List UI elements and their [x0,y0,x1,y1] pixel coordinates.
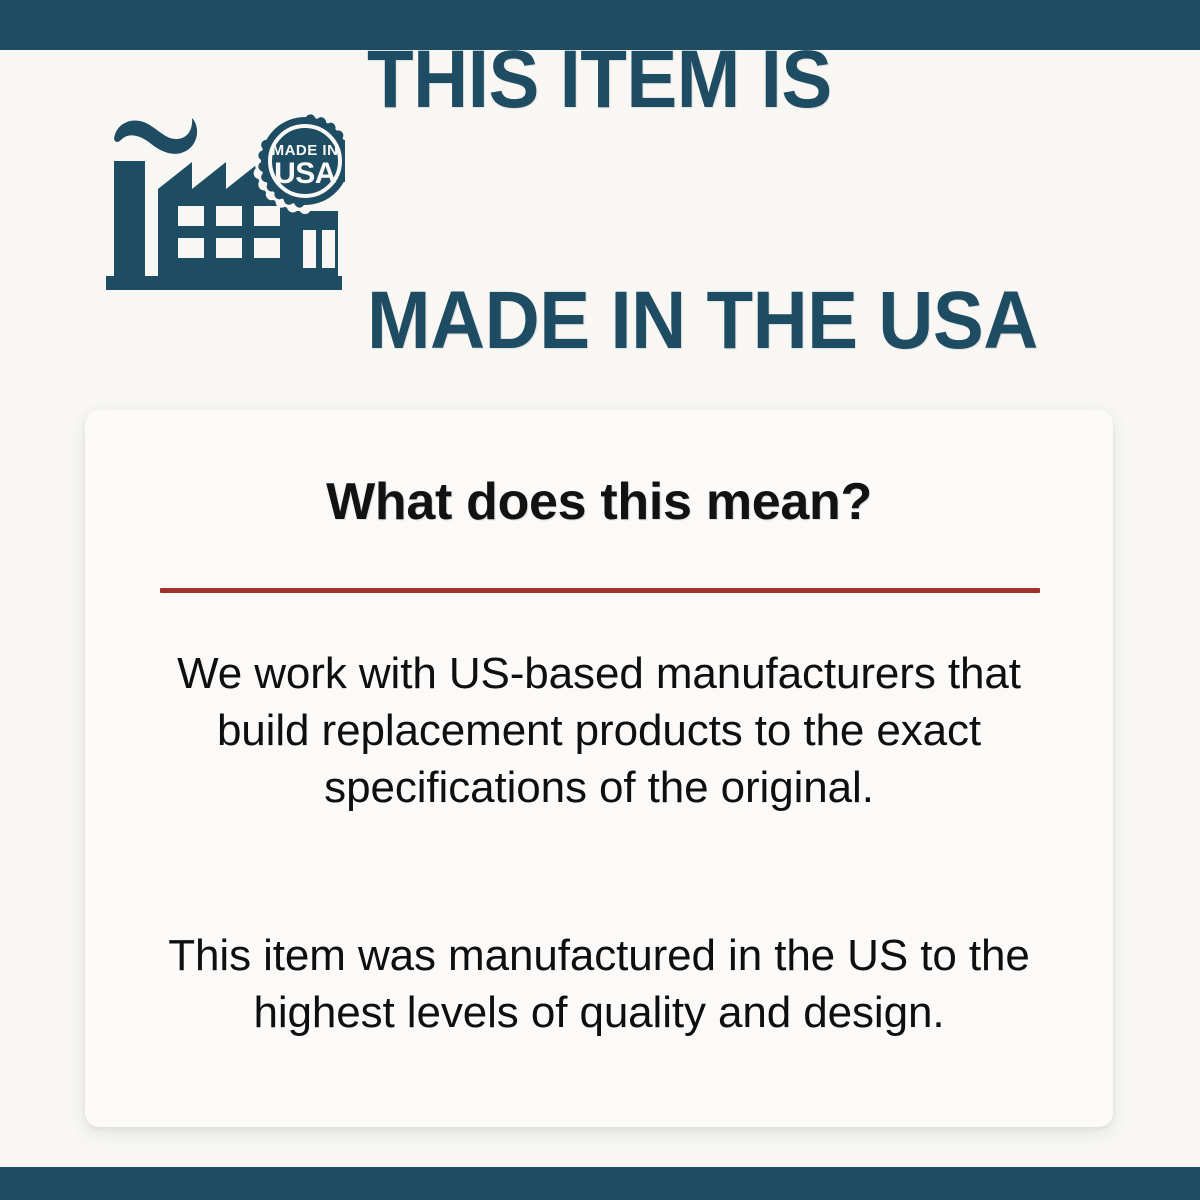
headline-line-1: THIS ITEM IS [367,40,1038,120]
factory-icon: MADE IN USA [100,106,345,296]
card-divider [160,588,1040,593]
card-paragraph-2: This item was manufactured in the US to … [135,928,1063,1042]
info-card: What does this mean? We work with US-bas… [85,410,1113,1127]
card-paragraph-1: We work with US-based manufacturers that… [135,646,1063,816]
header: MADE IN USA THIS ITEM IS MADE IN THE USA [0,96,1200,306]
badge-line2: USA [274,157,336,190]
page-canvas: MADE IN USA THIS ITEM IS MADE IN THE USA… [0,50,1200,1167]
factory-logo: MADE IN USA [100,106,345,296]
bottom-accent-band [0,1167,1200,1200]
card-title: What does this mean? [85,472,1113,532]
headline-line-2: MADE IN THE USA [367,281,1038,361]
